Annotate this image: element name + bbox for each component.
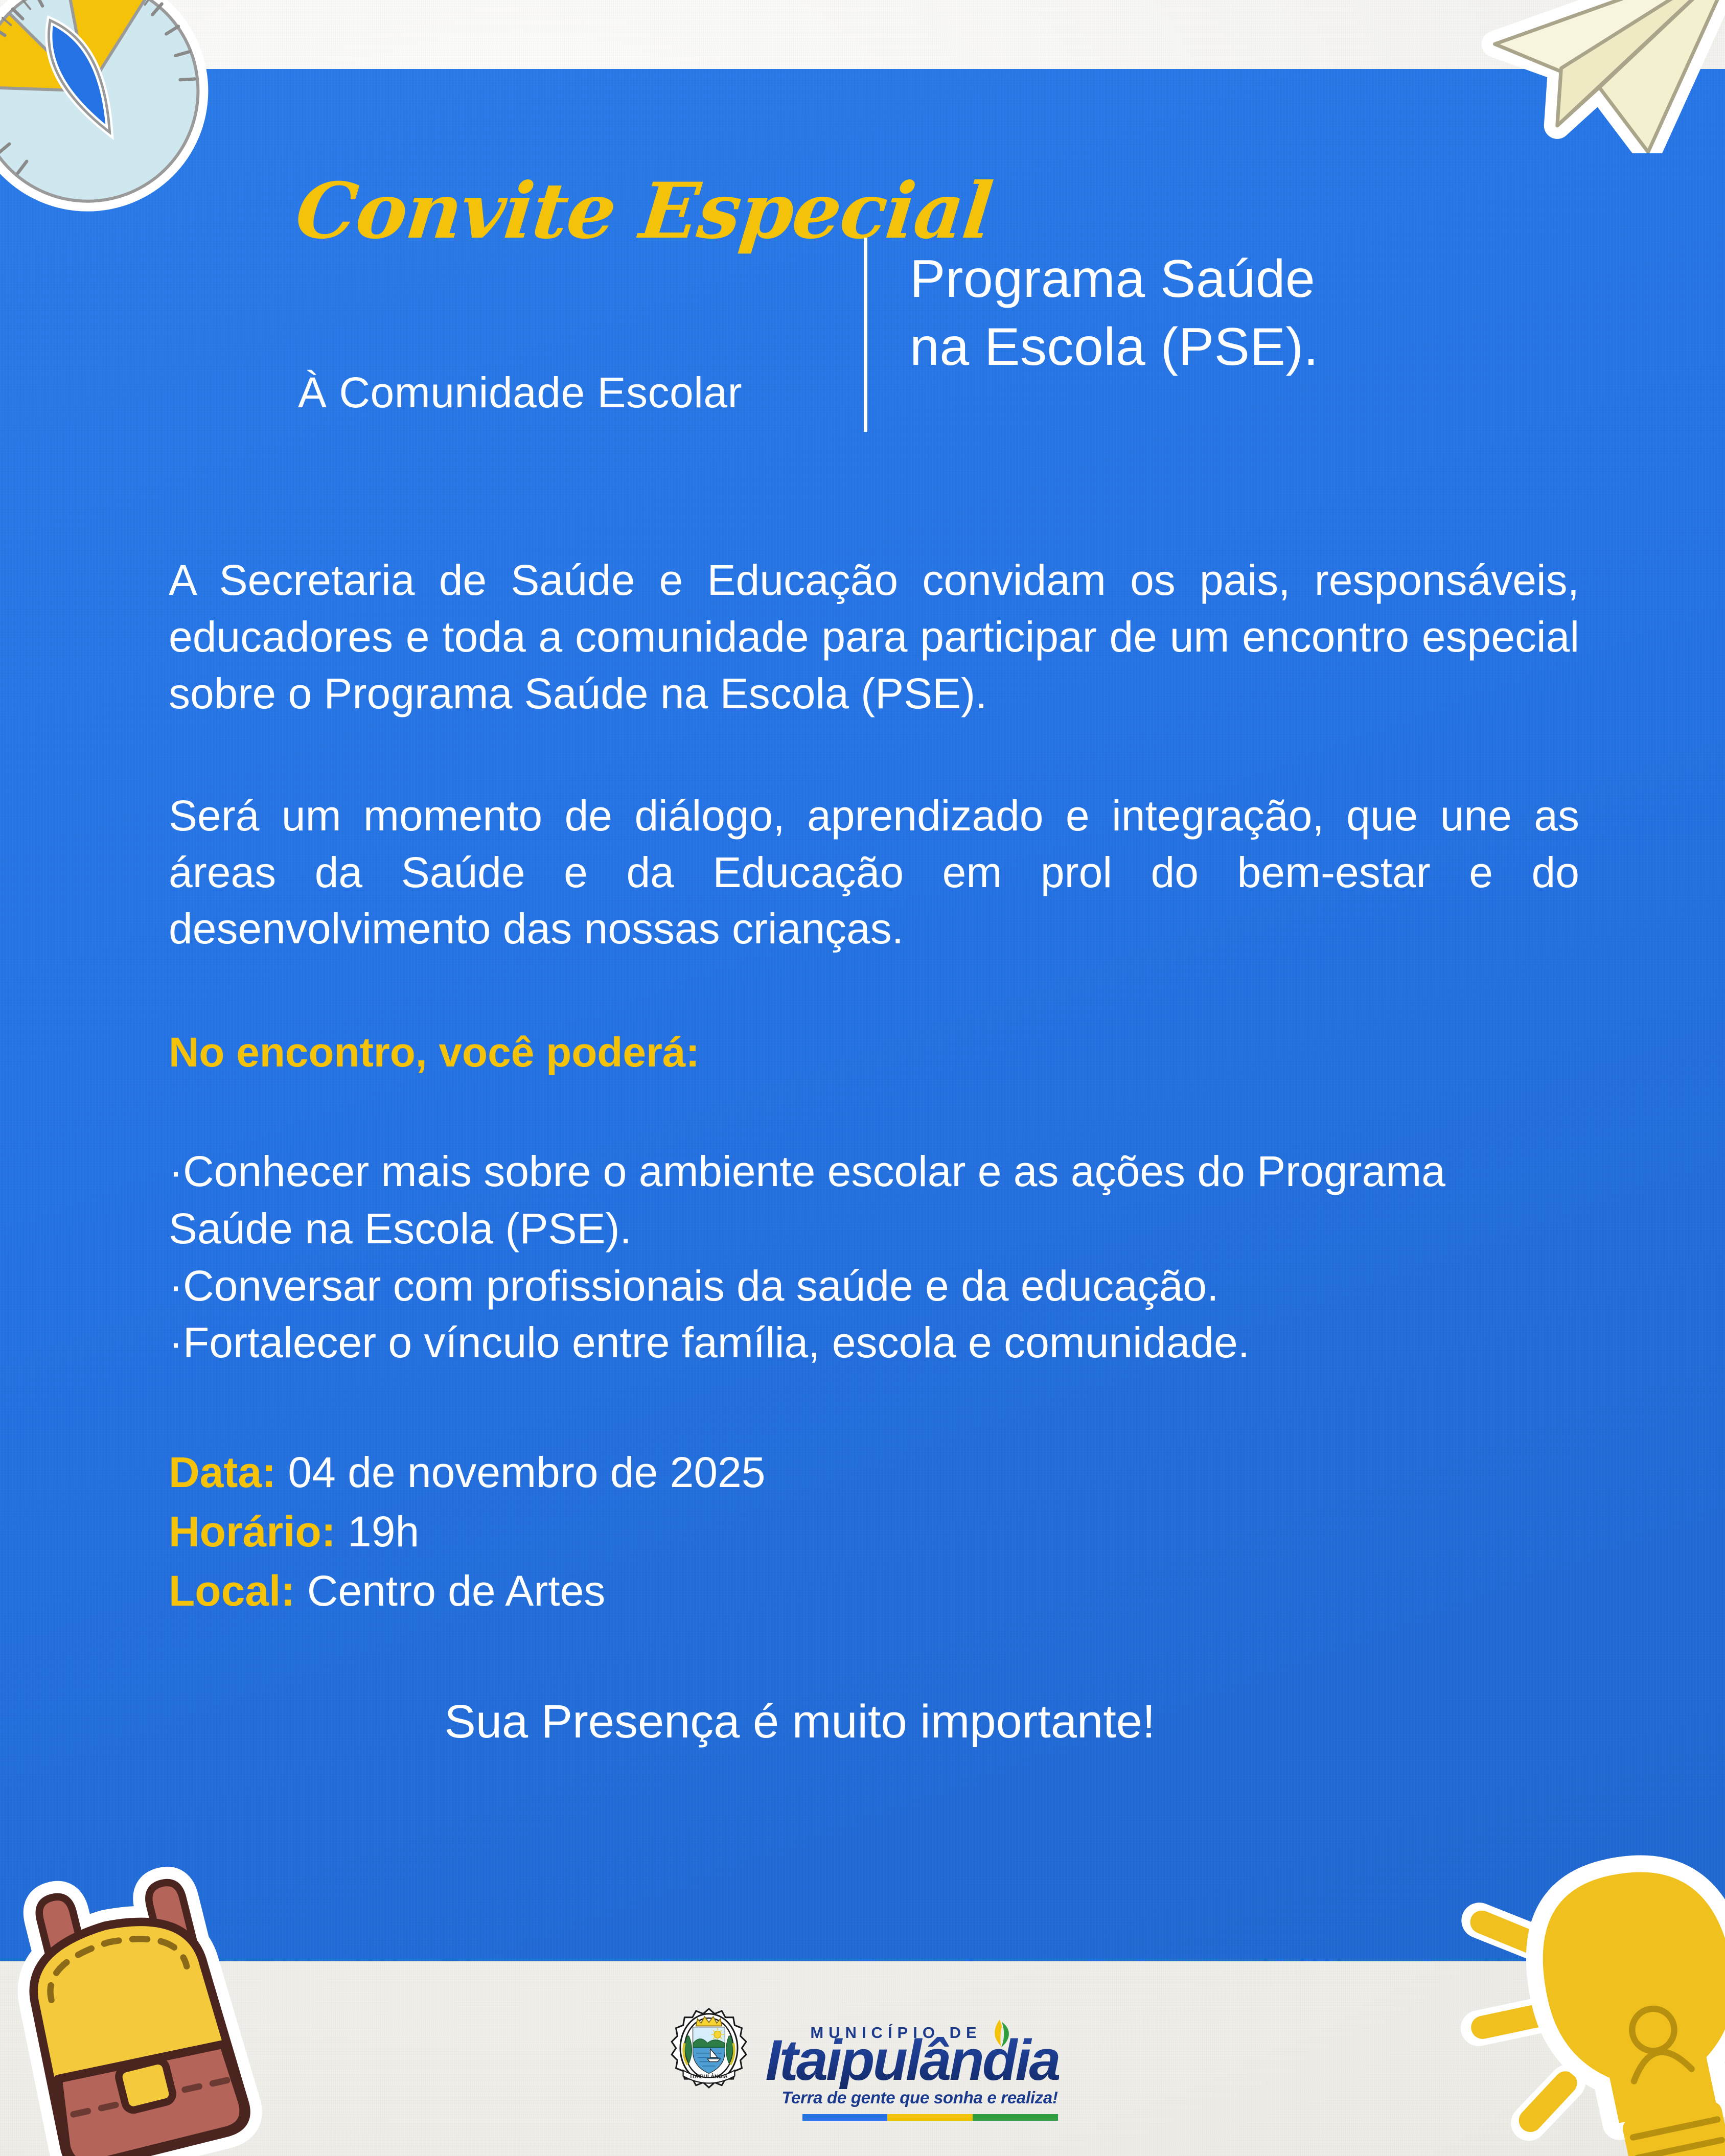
logo-slogan: Terra de gente que sonha e realiza! bbox=[781, 2088, 1057, 2107]
detail-date-value: 04 de novembro de 2025 bbox=[276, 1448, 765, 1496]
detail-date-label: Data: bbox=[169, 1448, 276, 1496]
bar-segment-yellow bbox=[887, 2114, 973, 2121]
bar-segment-green bbox=[973, 2114, 1058, 2121]
header-divider bbox=[864, 238, 867, 432]
script-subtitle: À Comunidade Escolar bbox=[298, 368, 742, 418]
intro-paragraph: A Secretaria de Saúde e Educação convida… bbox=[169, 552, 1579, 722]
coat-of-arms-icon: ITAIPULÂNDIA bbox=[666, 2007, 752, 2102]
benefits-list: ·Conhecer mais sobre o ambiente escolar … bbox=[169, 1143, 1579, 1372]
logo-color-bar bbox=[802, 2114, 1058, 2121]
detail-time-value: 19h bbox=[336, 1508, 420, 1556]
script-title: Convite Especial bbox=[292, 166, 996, 256]
detail-time-label: Horário: bbox=[169, 1508, 336, 1556]
detail-location: Local: Centro de Artes bbox=[169, 1562, 1579, 1621]
poster-header: Convite Especial À Comunidade Escolar Pr… bbox=[0, 69, 1725, 376]
municipality-logo: ITAIPULÂNDIA MUNICÍPIO DE Itaipulândia T… bbox=[666, 2007, 1059, 2102]
footer-logo-area: ITAIPULÂNDIA MUNICÍPIO DE Itaipulândia T… bbox=[0, 1961, 1725, 2156]
closing-statement: Sua Presença é muito importante! bbox=[169, 1695, 1579, 1749]
poster-body: A Secretaria de Saúde e Educação convida… bbox=[169, 501, 1579, 1749]
detail-location-value: Centro de Artes bbox=[295, 1567, 605, 1615]
blue-content-panel: Convite Especial À Comunidade Escolar Pr… bbox=[0, 69, 1725, 1961]
leaf-icon bbox=[990, 2019, 1012, 2048]
detail-location-label: Local: bbox=[169, 1567, 295, 1615]
description-paragraph: Será um momento de diálogo, aprendizado … bbox=[169, 787, 1579, 958]
highlight-heading: No encontro, você poderá: bbox=[169, 1029, 1579, 1077]
program-title: Programa Saúde na Escola (PSE). bbox=[910, 245, 1319, 381]
list-item: ·Conversar com profissionais da saúde e … bbox=[169, 1258, 1579, 1315]
logo-wordmark: MUNICÍPIO DE Itaipulândia Terra de gente… bbox=[765, 2021, 1059, 2089]
detail-time: Horário: 19h bbox=[169, 1502, 1579, 1562]
bar-segment-blue bbox=[802, 2114, 888, 2121]
list-item: ·Fortalecer o vínculo entre família, esc… bbox=[169, 1314, 1579, 1372]
crest-ribbon-text: ITAIPULÂNDIA bbox=[691, 2073, 728, 2080]
poster-canvas: Convite Especial À Comunidade Escolar Pr… bbox=[0, 0, 1725, 2156]
list-item: ·Conhecer mais sobre o ambiente escolar … bbox=[169, 1143, 1579, 1257]
detail-date: Data: 04 de novembro de 2025 bbox=[169, 1443, 1579, 1502]
logo-kicker: MUNICÍPIO DE bbox=[810, 2024, 981, 2042]
event-details: Data: 04 de novembro de 2025 Horário: 19… bbox=[169, 1443, 1579, 1621]
